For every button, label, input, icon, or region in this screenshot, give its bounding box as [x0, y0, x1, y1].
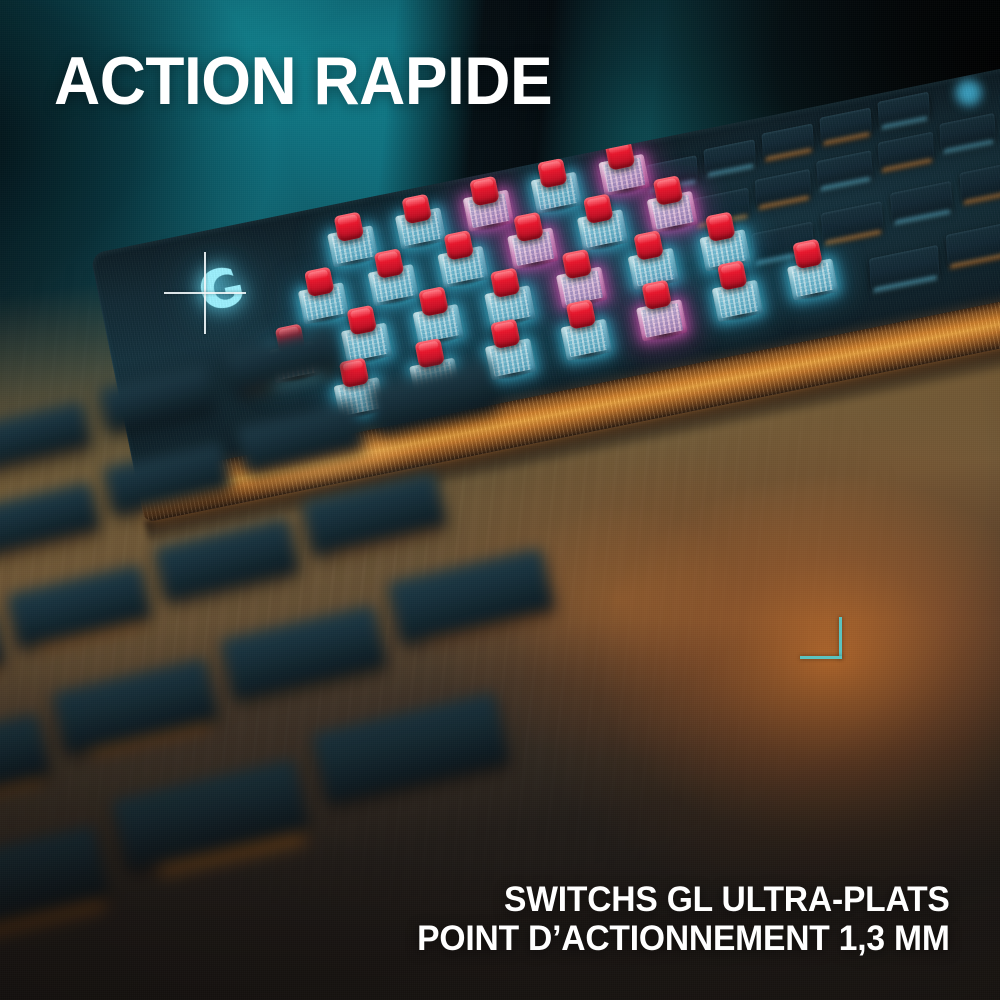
- feature-caption: SWITCHS GL ULTRA-PLATS POINT D’ACTIONNEM…: [395, 880, 950, 958]
- bracket-vertical-stroke: [839, 617, 842, 659]
- bracket-horizontal-stroke: [800, 656, 842, 659]
- page-title: ACTION RAPIDE: [54, 47, 552, 115]
- crosshair-horizontal-stroke: [164, 292, 246, 294]
- corner-bracket-marker: [800, 617, 842, 659]
- vignette: [0, 0, 1000, 1000]
- crosshair-marker: [164, 252, 246, 334]
- caption-line-2: POINT D’ACTIONNEMENT 1,3 MM: [418, 919, 950, 958]
- promo-poster: ACTION RAPIDE SWITCHS GL ULTRA-PLATS POI…: [0, 0, 1000, 1000]
- caption-line-1: SWITCHS GL ULTRA-PLATS: [418, 880, 950, 919]
